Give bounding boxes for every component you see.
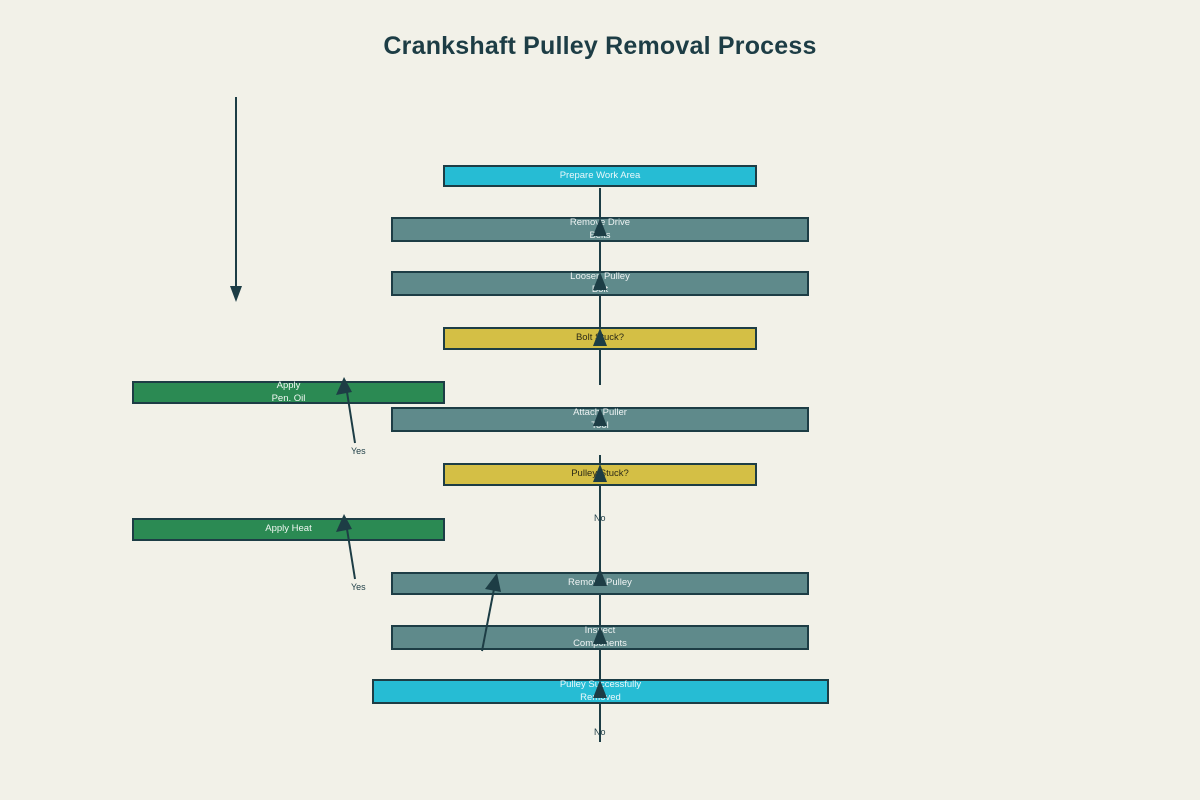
edge-bolt-stuck-to-apply-pen-oil	[336, 377, 355, 443]
edge-label-no-pulley: No	[594, 727, 606, 737]
arrowhead-into-pulley-successfully-removed	[593, 680, 607, 698]
edge-label-yes-bolt: Yes	[351, 446, 366, 456]
arrowhead-into-pulley-stuck	[593, 464, 607, 482]
edge-pulley-stuck-to-apply-heat	[336, 514, 355, 579]
arrowhead-into-remove-pulley	[593, 568, 607, 586]
arrowhead-into-attach-puller-tool	[593, 408, 607, 426]
edge-label-no-bolt: No	[594, 513, 606, 523]
arrowhead-into-inspect-components	[593, 626, 607, 644]
flowchart-canvas: Crankshaft Pulley Removal Process Prepar…	[0, 0, 1200, 800]
flow-connectors-over	[0, 0, 1200, 800]
arrowhead-into-remove-drive-belts	[593, 218, 607, 236]
edge-label-yes-pulley: Yes	[351, 582, 366, 592]
arrowhead-into-bolt-stuck	[593, 328, 607, 346]
arrowhead-into-loosen-pulley-bolt	[593, 272, 607, 290]
edge-inspect-to-remove-pulley	[482, 573, 501, 651]
